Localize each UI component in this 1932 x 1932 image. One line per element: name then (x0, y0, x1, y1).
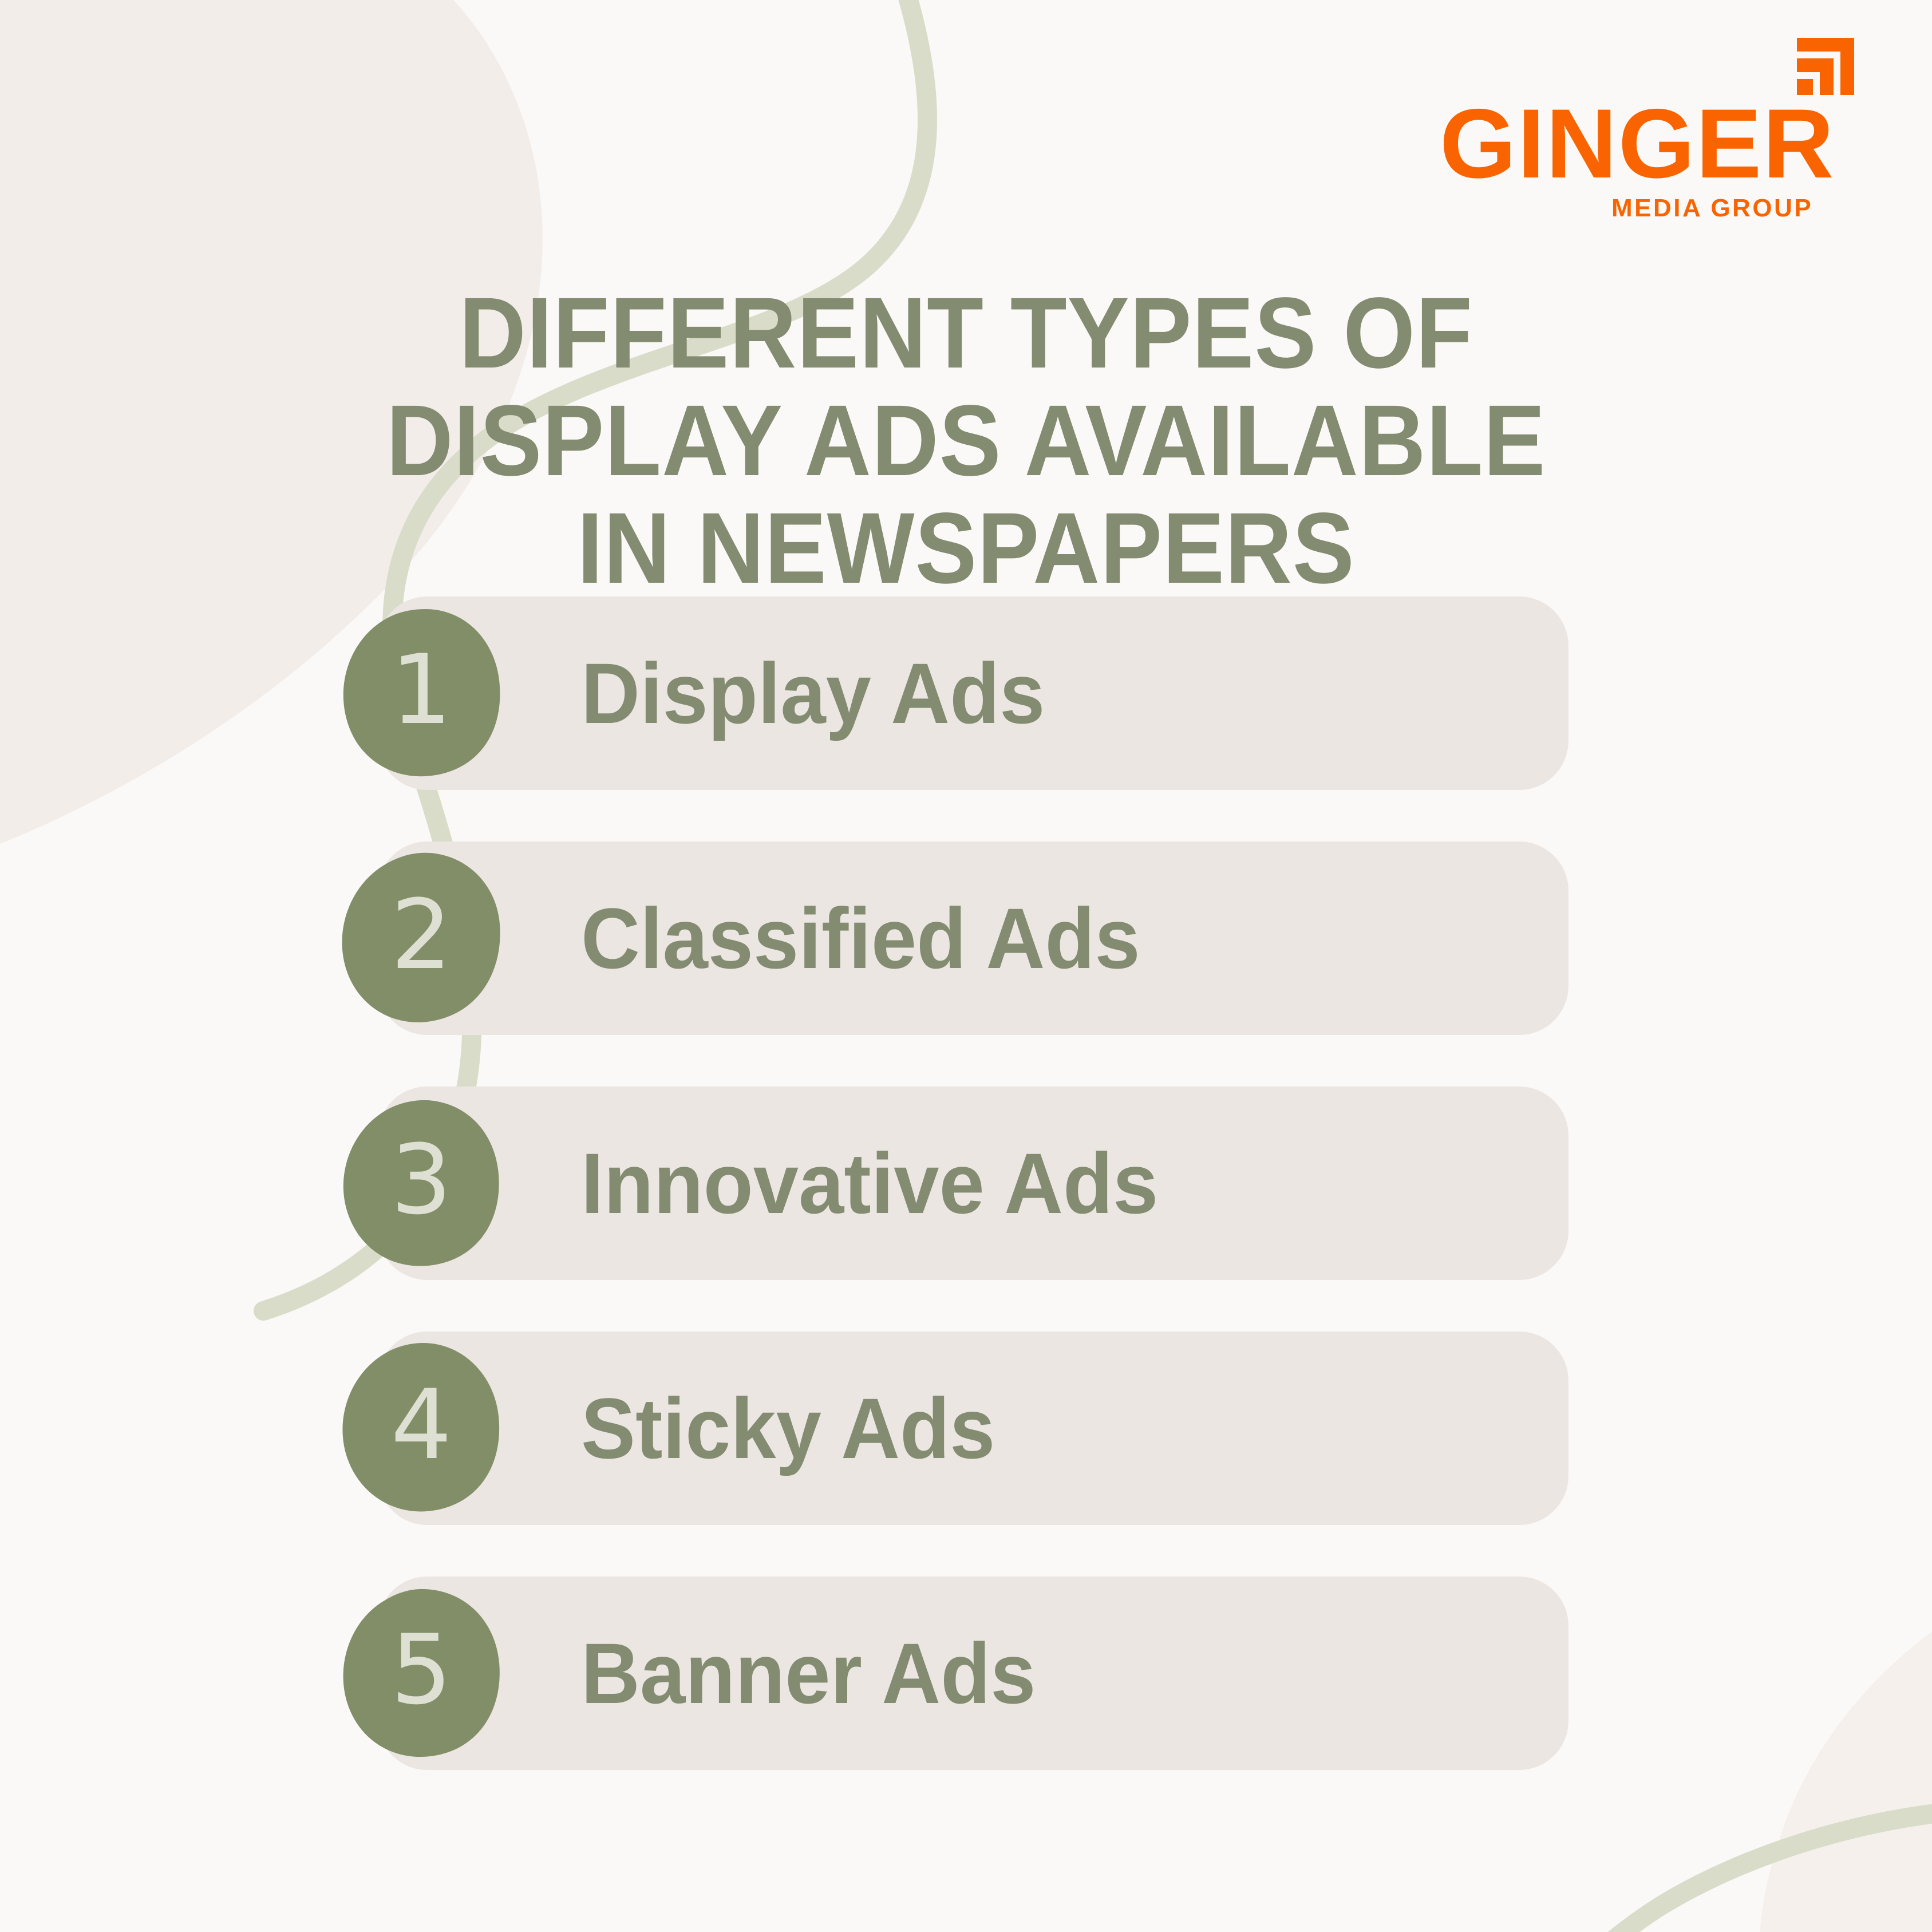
title-line-3: IN NEWSPAPERS (77, 495, 1855, 602)
list-item-badge: 2 (341, 852, 502, 1024)
list-item-number: 4 (341, 1342, 502, 1514)
bottom-right-wave-line (1511, 1808, 1932, 1932)
list-item[interactable]: 2 Classified Ads (0, 841, 1932, 1035)
list-item-label: Display Ads (581, 596, 1045, 790)
title-line-2: DISPLAY ADS AVAILABLE (77, 387, 1855, 495)
list-item[interactable]: 5 Banner Ads (0, 1577, 1932, 1770)
ad-types-list: 1 Display Ads 2 Classified Ads 3 Inno (0, 596, 1932, 1822)
infographic-canvas: GINGER MEDIA GROUP DIFFERENT TYPES OF DI… (0, 0, 1932, 1932)
list-item-label: Classified Ads (581, 841, 1140, 1035)
list-item-number: 2 (341, 852, 502, 1024)
list-item-badge: 3 (341, 1097, 502, 1269)
list-item[interactable]: 1 Display Ads (0, 596, 1932, 790)
list-item-number: 3 (341, 1097, 502, 1269)
list-item[interactable]: 4 Sticky Ads (0, 1332, 1932, 1525)
list-item[interactable]: 3 Innovative Ads (0, 1086, 1932, 1280)
brand-wordmark: GINGER (1440, 94, 1806, 193)
list-item-label: Innovative Ads (581, 1086, 1158, 1280)
list-item-number: 5 (341, 1587, 502, 1759)
list-item-badge: 4 (341, 1342, 502, 1514)
brand-tagline: MEDIA GROUP (1611, 196, 1813, 221)
list-item-badge: 5 (341, 1587, 502, 1759)
list-item-label: Sticky Ads (581, 1332, 995, 1525)
list-item-label: Banner Ads (581, 1577, 1036, 1770)
brand-logo[interactable]: GINGER MEDIA GROUP (1440, 34, 1863, 206)
list-item-badge: 1 (341, 607, 502, 779)
title-line-1: DIFFERENT TYPES OF (77, 279, 1855, 387)
list-item-number: 1 (341, 607, 502, 779)
page-title: DIFFERENT TYPES OF DISPLAY ADS AVAILABLE… (77, 279, 1855, 602)
